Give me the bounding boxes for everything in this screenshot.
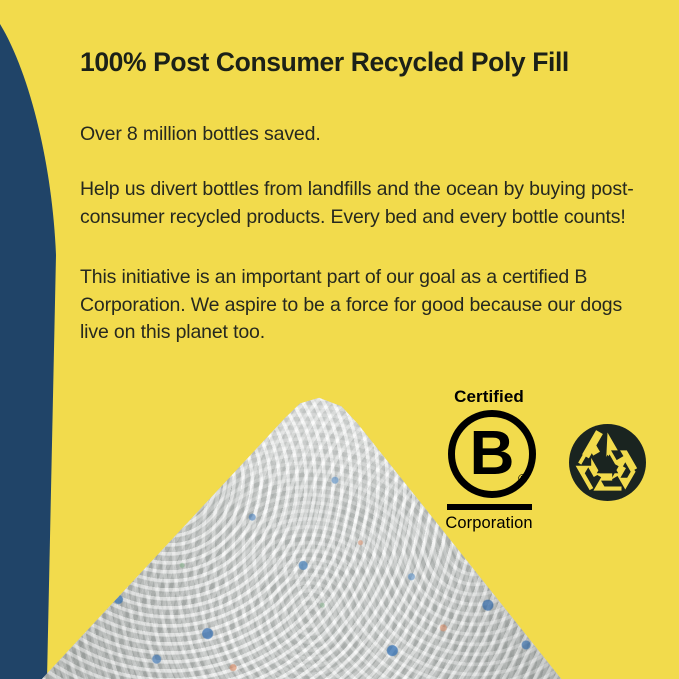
bottles-saved-statement: Over 8 million bottles saved. [80,121,650,149]
poly-fill-infographic: 100% Post Consumer Recycled Poly Fill Ov… [0,0,679,679]
bcorp-circle-b-mark: B ® [440,410,538,502]
recycle-icon [569,424,646,501]
bcorp-certified-label: Certified [440,388,538,405]
registered-trademark-icon: ® [518,472,528,485]
divert-bottles-paragraph: Help us divert bottles from landfills an… [80,176,650,231]
b-corporation-logo: Certified B ® Corporation [440,387,538,532]
page-title: 100% Post Consumer Recycled Poly Fill [80,48,665,78]
bcorp-corporation-label: Corporation [440,515,538,532]
bcorp-divider [447,504,532,510]
b-corporation-paragraph: This initiative is an important part of … [80,264,650,347]
